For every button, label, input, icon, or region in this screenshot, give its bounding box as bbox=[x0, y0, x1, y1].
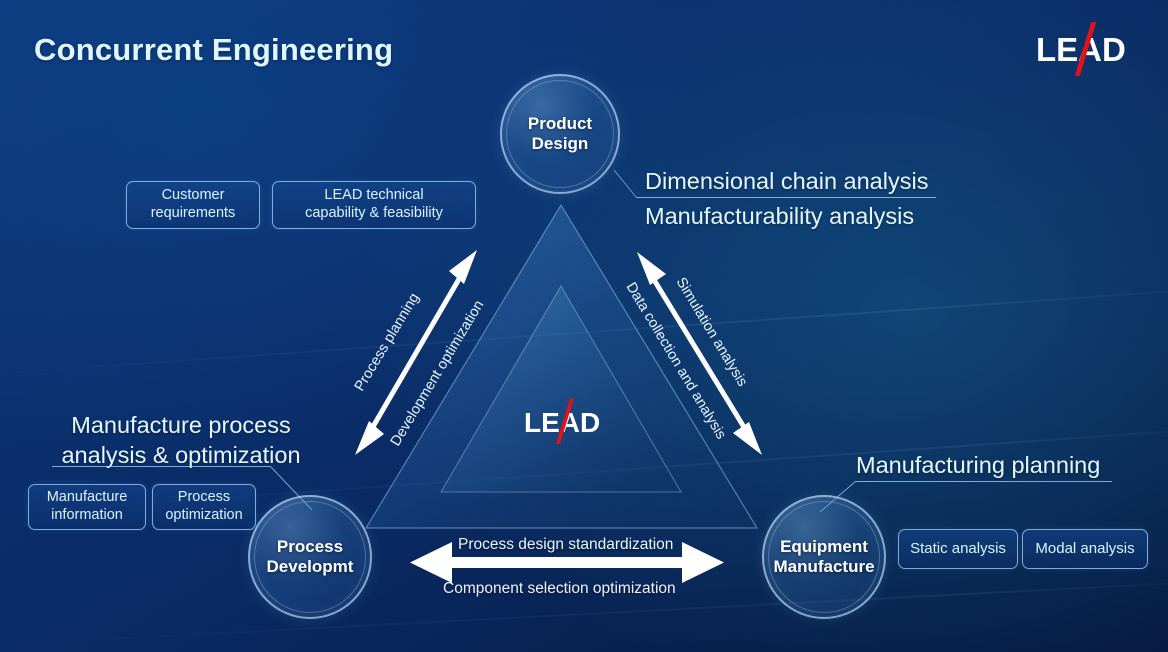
headline-manufacture-process-line1: Manufacture process bbox=[71, 412, 290, 438]
arrow-label-component-selection-optimization: Component selection optimization bbox=[443, 580, 676, 598]
node-equipment-manufacture-line1: Equipment bbox=[780, 537, 868, 556]
pill-process-optimization-line2: optimization bbox=[165, 507, 242, 523]
divider-right bbox=[856, 481, 1112, 482]
arrow-label-left-upper: Process planning bbox=[352, 290, 423, 394]
pill-static-analysis[interactable]: Static analysis bbox=[898, 529, 1018, 569]
pill-lead-technical-line2: capability & feasibility bbox=[305, 205, 443, 221]
node-product-design[interactable]: Product Design bbox=[500, 74, 620, 194]
headline-manufacture-process-line2: analysis & optimization bbox=[61, 442, 300, 468]
node-equipment-manufacture[interactable]: Equipment Manufacture bbox=[762, 495, 886, 619]
node-product-design-line1: Product bbox=[528, 114, 592, 133]
headline-manufacturing-planning: Manufacturing planning bbox=[856, 450, 1100, 480]
pill-modal-analysis[interactable]: Modal analysis bbox=[1022, 529, 1148, 569]
pill-manufacture-information[interactable]: Manufacture information bbox=[28, 484, 146, 530]
pill-process-optimization[interactable]: Process optimization bbox=[152, 484, 256, 530]
node-product-design-line2: Design bbox=[532, 134, 589, 153]
pill-process-optimization-line1: Process bbox=[178, 489, 230, 505]
node-equipment-manufacture-line2: Manufacture bbox=[773, 557, 874, 576]
pill-lead-technical-capability[interactable]: LEAD technical capability & feasibility bbox=[272, 181, 476, 229]
pill-customer-requirements[interactable]: Customer requirements bbox=[126, 181, 260, 229]
node-process-development[interactable]: Process Developmt bbox=[248, 495, 372, 619]
slide-canvas: Concurrent Engineering LEAD bbox=[0, 0, 1168, 652]
arrow-label-process-design-standardization: Process design standardization bbox=[458, 536, 673, 554]
headline-dimensional-chain-analysis: Dimensional chain analysis bbox=[645, 166, 928, 196]
headline-manufacture-process-analysis: Manufacture process analysis & optimizat… bbox=[50, 410, 312, 470]
pill-lead-technical-line1: LEAD technical bbox=[324, 187, 423, 203]
lead-logo-center: LEAD bbox=[524, 402, 604, 444]
pill-manufacture-information-line2: information bbox=[51, 507, 123, 523]
pill-customer-requirements-line1: Customer bbox=[162, 187, 225, 203]
pill-customer-requirements-line2: requirements bbox=[151, 205, 236, 221]
headline-manufacturability-analysis: Manufacturability analysis bbox=[645, 201, 914, 231]
pill-manufacture-information-line1: Manufacture bbox=[47, 489, 128, 505]
divider-top bbox=[636, 197, 936, 198]
node-process-development-line2: Developmt bbox=[267, 557, 354, 576]
divider-left bbox=[52, 466, 270, 467]
node-process-development-line1: Process bbox=[277, 537, 343, 556]
connector-top bbox=[614, 170, 636, 197]
